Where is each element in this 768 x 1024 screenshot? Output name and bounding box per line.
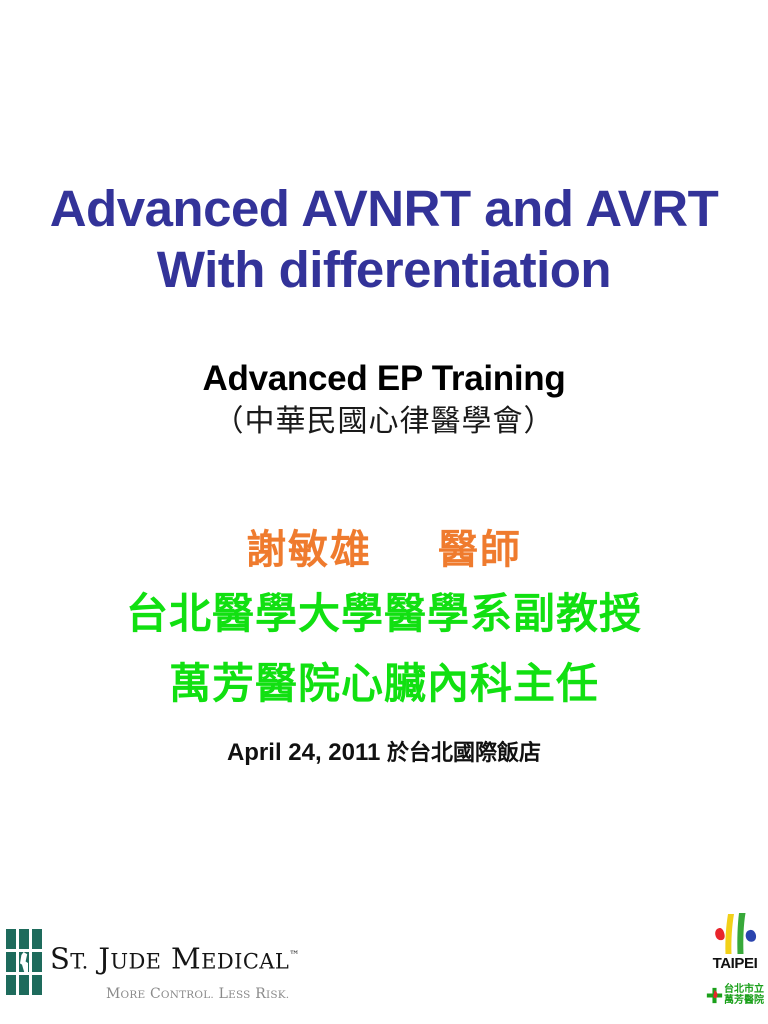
tagline-l: L <box>219 986 229 1002</box>
logo-tile <box>32 952 42 972</box>
wordmark-s: S <box>50 942 70 976</box>
tagline-c: C <box>150 986 161 1002</box>
title-line-1: Advanced AVNRT and AVRT <box>0 178 768 239</box>
wordmark-m: M <box>171 942 201 976</box>
page-title: Advanced AVNRT and AVRT With differentia… <box>0 178 768 300</box>
taipei-brush-mark-icon <box>706 912 764 956</box>
wordmark-ude: UDE <box>110 950 161 974</box>
hospital-name-line-2: 萬芳醫院 <box>724 995 764 1006</box>
sponsor-wordmark: ST. JUDE MEDICAL™ <box>50 939 299 979</box>
tagline-period-2: . <box>286 989 290 1001</box>
presenter-name-row: 謝敏雄 醫師 <box>0 521 768 579</box>
tagline-ore: ORE <box>121 989 146 1001</box>
wordmark-t: T. <box>70 950 88 974</box>
hospital-logo: TAIPEI 台北市立 萬芳醫院 <box>706 912 764 1016</box>
affiliation-line-2: 萬芳醫院心臟內科主任 <box>0 649 768 719</box>
subtitle-chinese: （中華民國心律醫學會） <box>0 401 768 443</box>
logo-tile <box>6 929 16 949</box>
event-date: April 24, 2011 <box>227 739 380 766</box>
slide-canvas: Advanced AVNRT and AVRT With differentia… <box>0 0 768 1024</box>
subtitle: Advanced EP Training （中華民國心律醫學會） <box>0 357 768 443</box>
wordmark-j: J <box>98 942 110 976</box>
tagline-ess: ESS <box>228 989 250 1001</box>
logo-tile <box>32 929 42 949</box>
logo-tile <box>19 975 29 995</box>
tagline-m: M <box>106 986 121 1002</box>
sponsor-tagline: MORE CONTROL. LESS RISK. <box>106 986 289 1003</box>
event-venue: 於台北國際飯店 <box>387 740 541 766</box>
medical-cross-icon <box>706 987 723 1004</box>
taipei-wordmark: TAIPEI <box>706 955 764 972</box>
trademark-mark: ™ <box>289 950 299 961</box>
logo-tile <box>6 952 16 972</box>
title-line-2: With differentiation <box>0 239 768 300</box>
logo-tile <box>19 929 29 949</box>
presenter-block: 謝敏雄 醫師 台北醫學大學醫學系副教授 萬芳醫院心臟內科主任 <box>0 521 768 719</box>
sponsor-logo-grid-icon <box>6 929 42 995</box>
wordmark-edical: EDICAL <box>201 950 289 974</box>
tagline-r: R <box>255 986 266 1002</box>
sponsor-logo: ST. JUDE MEDICAL™ MORE CONTROL. LESS RIS… <box>6 927 238 1013</box>
flame-tile-icon <box>19 952 29 972</box>
hospital-name: 台北市立 萬芳醫院 <box>724 984 764 1006</box>
affiliation-line-1: 台北醫學大學醫學系副教授 <box>0 579 768 649</box>
hospital-name-row: 台北市立 萬芳醫院 <box>706 976 764 1014</box>
subtitle-english: Advanced EP Training <box>0 357 768 401</box>
presenter-name: 謝敏雄 <box>246 526 372 573</box>
hospital-name-line-1: 台北市立 <box>724 984 764 995</box>
tagline-isk: ISK <box>266 989 286 1001</box>
logo-tile <box>32 975 42 995</box>
tagline-period-1: . <box>210 989 214 1001</box>
logo-tile <box>6 975 16 995</box>
presenter-title: 醫師 <box>438 526 522 573</box>
tagline-ontrol: ONTROL <box>161 989 211 1001</box>
event-line: April 24, 2011 於台北國際飯店 <box>0 738 768 768</box>
